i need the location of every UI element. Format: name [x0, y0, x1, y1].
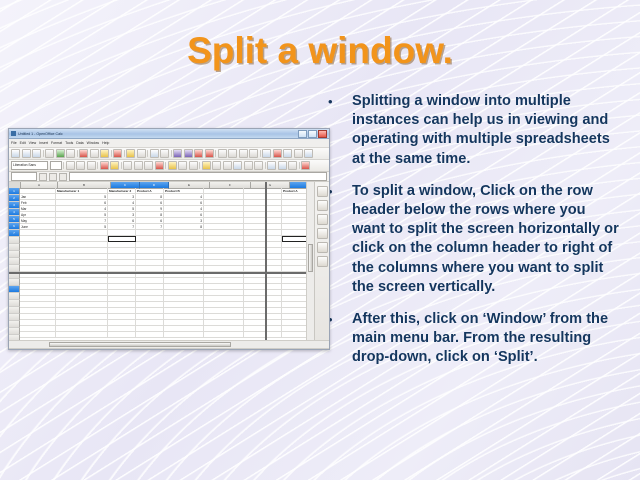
function-icon[interactable]: [59, 173, 67, 181]
align-bottom-icon[interactable]: [189, 161, 198, 170]
toolbar-separator: [215, 150, 216, 157]
menu-item-file[interactable]: File: [11, 141, 17, 145]
number-format-icon[interactable]: [223, 161, 232, 170]
special-character-icon[interactable]: [249, 149, 258, 158]
row-header-8[interactable]: [9, 237, 20, 244]
cell-g25[interactable]: [244, 332, 282, 338]
sheet-tab-sheet3[interactable]: Sheet3: [72, 349, 88, 350]
menu-item-insert[interactable]: Insert: [39, 141, 48, 145]
toolbar-separator: [171, 150, 172, 157]
formatting-toolbar: Liberation Sans: [9, 160, 329, 172]
background-color-icon[interactable]: [301, 161, 310, 170]
row-header-19[interactable]: [9, 314, 20, 321]
spreadsheet-grid[interactable]: A B C D E F G C D E F G 1 2 3 4 5: [9, 182, 306, 340]
sidebar-functions-icon[interactable]: [317, 256, 328, 267]
page-title: Split a window.: [40, 30, 600, 72]
save-icon[interactable]: [32, 149, 41, 158]
table-row: [20, 332, 306, 338]
sheet-tab-sheet1[interactable]: Sheet1: [38, 349, 54, 350]
row-header-12[interactable]: [9, 265, 20, 272]
minimize-icon[interactable]: [298, 130, 307, 138]
row-header-column: 1 2 3 4 5 6 7: [9, 188, 20, 340]
row-header-15[interactable]: [9, 286, 20, 293]
cell-d25[interactable]: [136, 332, 164, 338]
sheet-tab-bar: Sheet1 Sheet2 Sheet3 Prod. Qty (Jan) Pro…: [9, 348, 329, 350]
standard-toolbar: [9, 148, 329, 160]
horizontal-scroll-thumb[interactable]: [49, 342, 231, 347]
toolbar-separator: [199, 162, 200, 169]
line-style-icon[interactable]: [278, 161, 287, 170]
cell-a25[interactable]: [20, 332, 56, 338]
row-header-6[interactable]: 6: [9, 223, 20, 230]
add-decimal-icon[interactable]: [233, 161, 242, 170]
toolbar-separator: [265, 162, 266, 169]
toolbar-separator: [147, 150, 148, 157]
merge-cells-icon[interactable]: [168, 161, 177, 170]
formula-bar: [9, 172, 329, 182]
align-right-icon[interactable]: [144, 161, 153, 170]
sidebar-gallery-icon[interactable]: [317, 228, 328, 239]
sheet-tab-sheet2[interactable]: Sheet2: [55, 349, 71, 350]
bullet-marker: •: [326, 92, 352, 111]
help-icon[interactable]: [294, 149, 303, 158]
menu-item-view[interactable]: View: [29, 141, 37, 145]
vertical-scrollbar[interactable]: [306, 182, 314, 340]
sheet-tab-prod-qty-apr[interactable]: Prod. Qty (Apr): [173, 349, 200, 350]
row-header-4[interactable]: 4: [9, 209, 20, 216]
line-color-icon[interactable]: [288, 161, 297, 170]
cell-right-c25[interactable]: [282, 332, 306, 338]
draw-functions-icon[interactable]: [239, 149, 248, 158]
row-header-17[interactable]: [9, 300, 20, 307]
borders-icon[interactable]: [267, 161, 276, 170]
find-replace-icon[interactable]: [150, 149, 159, 158]
currency-format-icon[interactable]: [202, 161, 211, 170]
menu-item-data[interactable]: Data: [76, 141, 83, 145]
sidebar-styles-icon[interactable]: [317, 214, 328, 225]
menu-item-tools[interactable]: Tools: [65, 141, 73, 145]
row-header-3[interactable]: 3: [9, 202, 20, 209]
row-header-7[interactable]: 7: [9, 230, 20, 237]
list-item: • Splitting a window into multiple insta…: [326, 92, 622, 169]
calc-window-title: Untitled 1 - OpenOffice Calc: [18, 132, 298, 136]
vertical-split-bar[interactable]: [265, 182, 267, 340]
align-center-icon[interactable]: [134, 161, 143, 170]
row-header-11[interactable]: [9, 258, 20, 265]
underline-icon[interactable]: [87, 161, 96, 170]
align-justified-icon[interactable]: [155, 161, 164, 170]
toolbar-separator: [63, 162, 64, 169]
insert-image-icon[interactable]: [218, 149, 227, 158]
row-header-18[interactable]: [9, 307, 20, 314]
list-item: • To split a window, Click on the row he…: [326, 182, 622, 297]
function-wizard-icon[interactable]: [39, 173, 47, 181]
delete-decimal-icon[interactable]: [244, 161, 253, 170]
chart-icon[interactable]: [205, 149, 214, 158]
open-icon[interactable]: [22, 149, 31, 158]
font-name-input[interactable]: Liberation Sans: [11, 161, 48, 170]
calc-menu-bar: File Edit View Insert Format Tools Data …: [9, 139, 329, 148]
toolbar-separator: [260, 150, 261, 157]
list-item: • After this, click on ‘Window’ from the…: [326, 310, 622, 368]
row-header-1[interactable]: 1: [9, 188, 20, 195]
sheet-tab-prod-qty-feb[interactable]: Prod. Qty (Feb): [117, 349, 144, 350]
toolbar-separator: [43, 150, 44, 157]
menu-item-format[interactable]: Format: [51, 141, 62, 145]
menu-item-window[interactable]: Window: [87, 141, 99, 145]
autofilter-icon[interactable]: [194, 149, 203, 158]
toolbar-separator: [97, 162, 98, 169]
sheet-tab-sheet4[interactable]: Sheet4: [201, 349, 217, 350]
bullet-text: To split a window, Click on the row head…: [352, 182, 622, 297]
decrease-indent-icon[interactable]: [254, 161, 263, 170]
close-icon[interactable]: [318, 130, 327, 138]
row-header-16[interactable]: [9, 293, 20, 300]
name-box-input[interactable]: [11, 172, 37, 181]
sidebar-panel: [314, 182, 329, 340]
toolbar-separator: [111, 150, 112, 157]
undo-icon[interactable]: [126, 149, 135, 158]
highlight-color-icon[interactable]: [110, 161, 119, 170]
export-pdf-icon[interactable]: [56, 149, 65, 158]
formula-input[interactable]: [69, 172, 327, 181]
navigator-icon[interactable]: [304, 149, 313, 158]
sort-descending-icon[interactable]: [184, 149, 193, 158]
cell-f25[interactable]: [204, 332, 244, 338]
sum-icon[interactable]: [49, 173, 57, 181]
row-header-5[interactable]: 5: [9, 216, 20, 223]
previous-sheet-button[interactable]: [17, 349, 23, 350]
cut-icon[interactable]: [79, 149, 88, 158]
last-sheet-button[interactable]: [31, 349, 37, 350]
row-header-10[interactable]: [9, 251, 20, 258]
row-header-2[interactable]: 2: [9, 195, 20, 202]
horizontal-split-bar[interactable]: [9, 272, 306, 274]
italic-icon[interactable]: [76, 161, 85, 170]
sidebar-properties-icon[interactable]: [317, 200, 328, 211]
cell-e25[interactable]: [164, 332, 204, 338]
cell-c25[interactable]: [108, 332, 136, 338]
email-icon[interactable]: [45, 149, 54, 158]
new-icon[interactable]: [11, 149, 20, 158]
sheet-tab-prod-qty-jan[interactable]: Prod. Qty (Jan): [89, 349, 116, 350]
sheet-tab-prod-qty-mar[interactable]: Prod. Qty (Mar): [145, 349, 172, 350]
bullet-text: Splitting a window into multiple instanc…: [352, 92, 622, 169]
app-icon: [11, 131, 16, 136]
row-header-9[interactable]: [9, 244, 20, 251]
next-sheet-button[interactable]: [24, 349, 30, 350]
percent-format-icon[interactable]: [212, 161, 221, 170]
horizontal-scrollbar[interactable]: [9, 340, 329, 348]
font-color-icon[interactable]: [100, 161, 109, 170]
paste-icon[interactable]: [100, 149, 109, 158]
clone-formatting-icon[interactable]: [113, 149, 122, 158]
print-icon[interactable]: [66, 149, 75, 158]
row-header-14[interactable]: [9, 279, 20, 286]
toolbar-separator: [124, 150, 125, 157]
cell-b25[interactable]: [56, 332, 108, 338]
toolbar-separator: [299, 162, 300, 169]
font-size-input[interactable]: [50, 161, 62, 170]
maximize-icon[interactable]: [308, 130, 317, 138]
sort-ascending-icon[interactable]: [173, 149, 182, 158]
toolbar-separator: [165, 162, 166, 169]
window-controls: [298, 130, 327, 138]
row-header-21[interactable]: [9, 328, 20, 335]
sidebar-settings-icon[interactable]: [317, 186, 328, 197]
toolbar-separator: [121, 162, 122, 169]
add-sheet-button[interactable]: [218, 349, 224, 350]
hyperlink-icon[interactable]: [228, 149, 237, 158]
spelling-icon[interactable]: [160, 149, 169, 158]
row-header-20[interactable]: [9, 321, 20, 328]
menu-item-help[interactable]: Help: [102, 141, 109, 145]
calc-screenshot-image: Untitled 1 - OpenOffice Calc File Edit V…: [8, 128, 330, 350]
bullet-list: • Splitting a window into multiple insta…: [326, 92, 622, 381]
redo-icon[interactable]: [137, 149, 146, 158]
toolbar-separator: [77, 150, 78, 157]
bullet-text: After this, click on ‘Window’ from the m…: [352, 310, 622, 368]
bold-icon[interactable]: [66, 161, 75, 170]
spreadsheet-body: A B C D E F G C D E F G 1 2 3 4 5: [9, 182, 329, 340]
align-top-icon[interactable]: [178, 161, 187, 170]
cells-area: Manufacturer 1 Manufacturer 2 Product A …: [20, 188, 306, 340]
grid-rows: 1 2 3 4 5 6 7: [9, 188, 306, 340]
vertical-scroll-thumb[interactable]: [308, 244, 313, 272]
headers-footers-icon[interactable]: [262, 149, 271, 158]
copy-icon[interactable]: [90, 149, 99, 158]
calc-title-bar: Untitled 1 - OpenOffice Calc: [9, 129, 329, 139]
first-sheet-button[interactable]: [10, 349, 16, 350]
sidebar-navigator-icon[interactable]: [317, 242, 328, 253]
menu-item-edit[interactable]: Edit: [20, 141, 26, 145]
align-left-icon[interactable]: [123, 161, 132, 170]
split-window-icon[interactable]: [283, 149, 292, 158]
freeze-icon[interactable]: [273, 149, 282, 158]
